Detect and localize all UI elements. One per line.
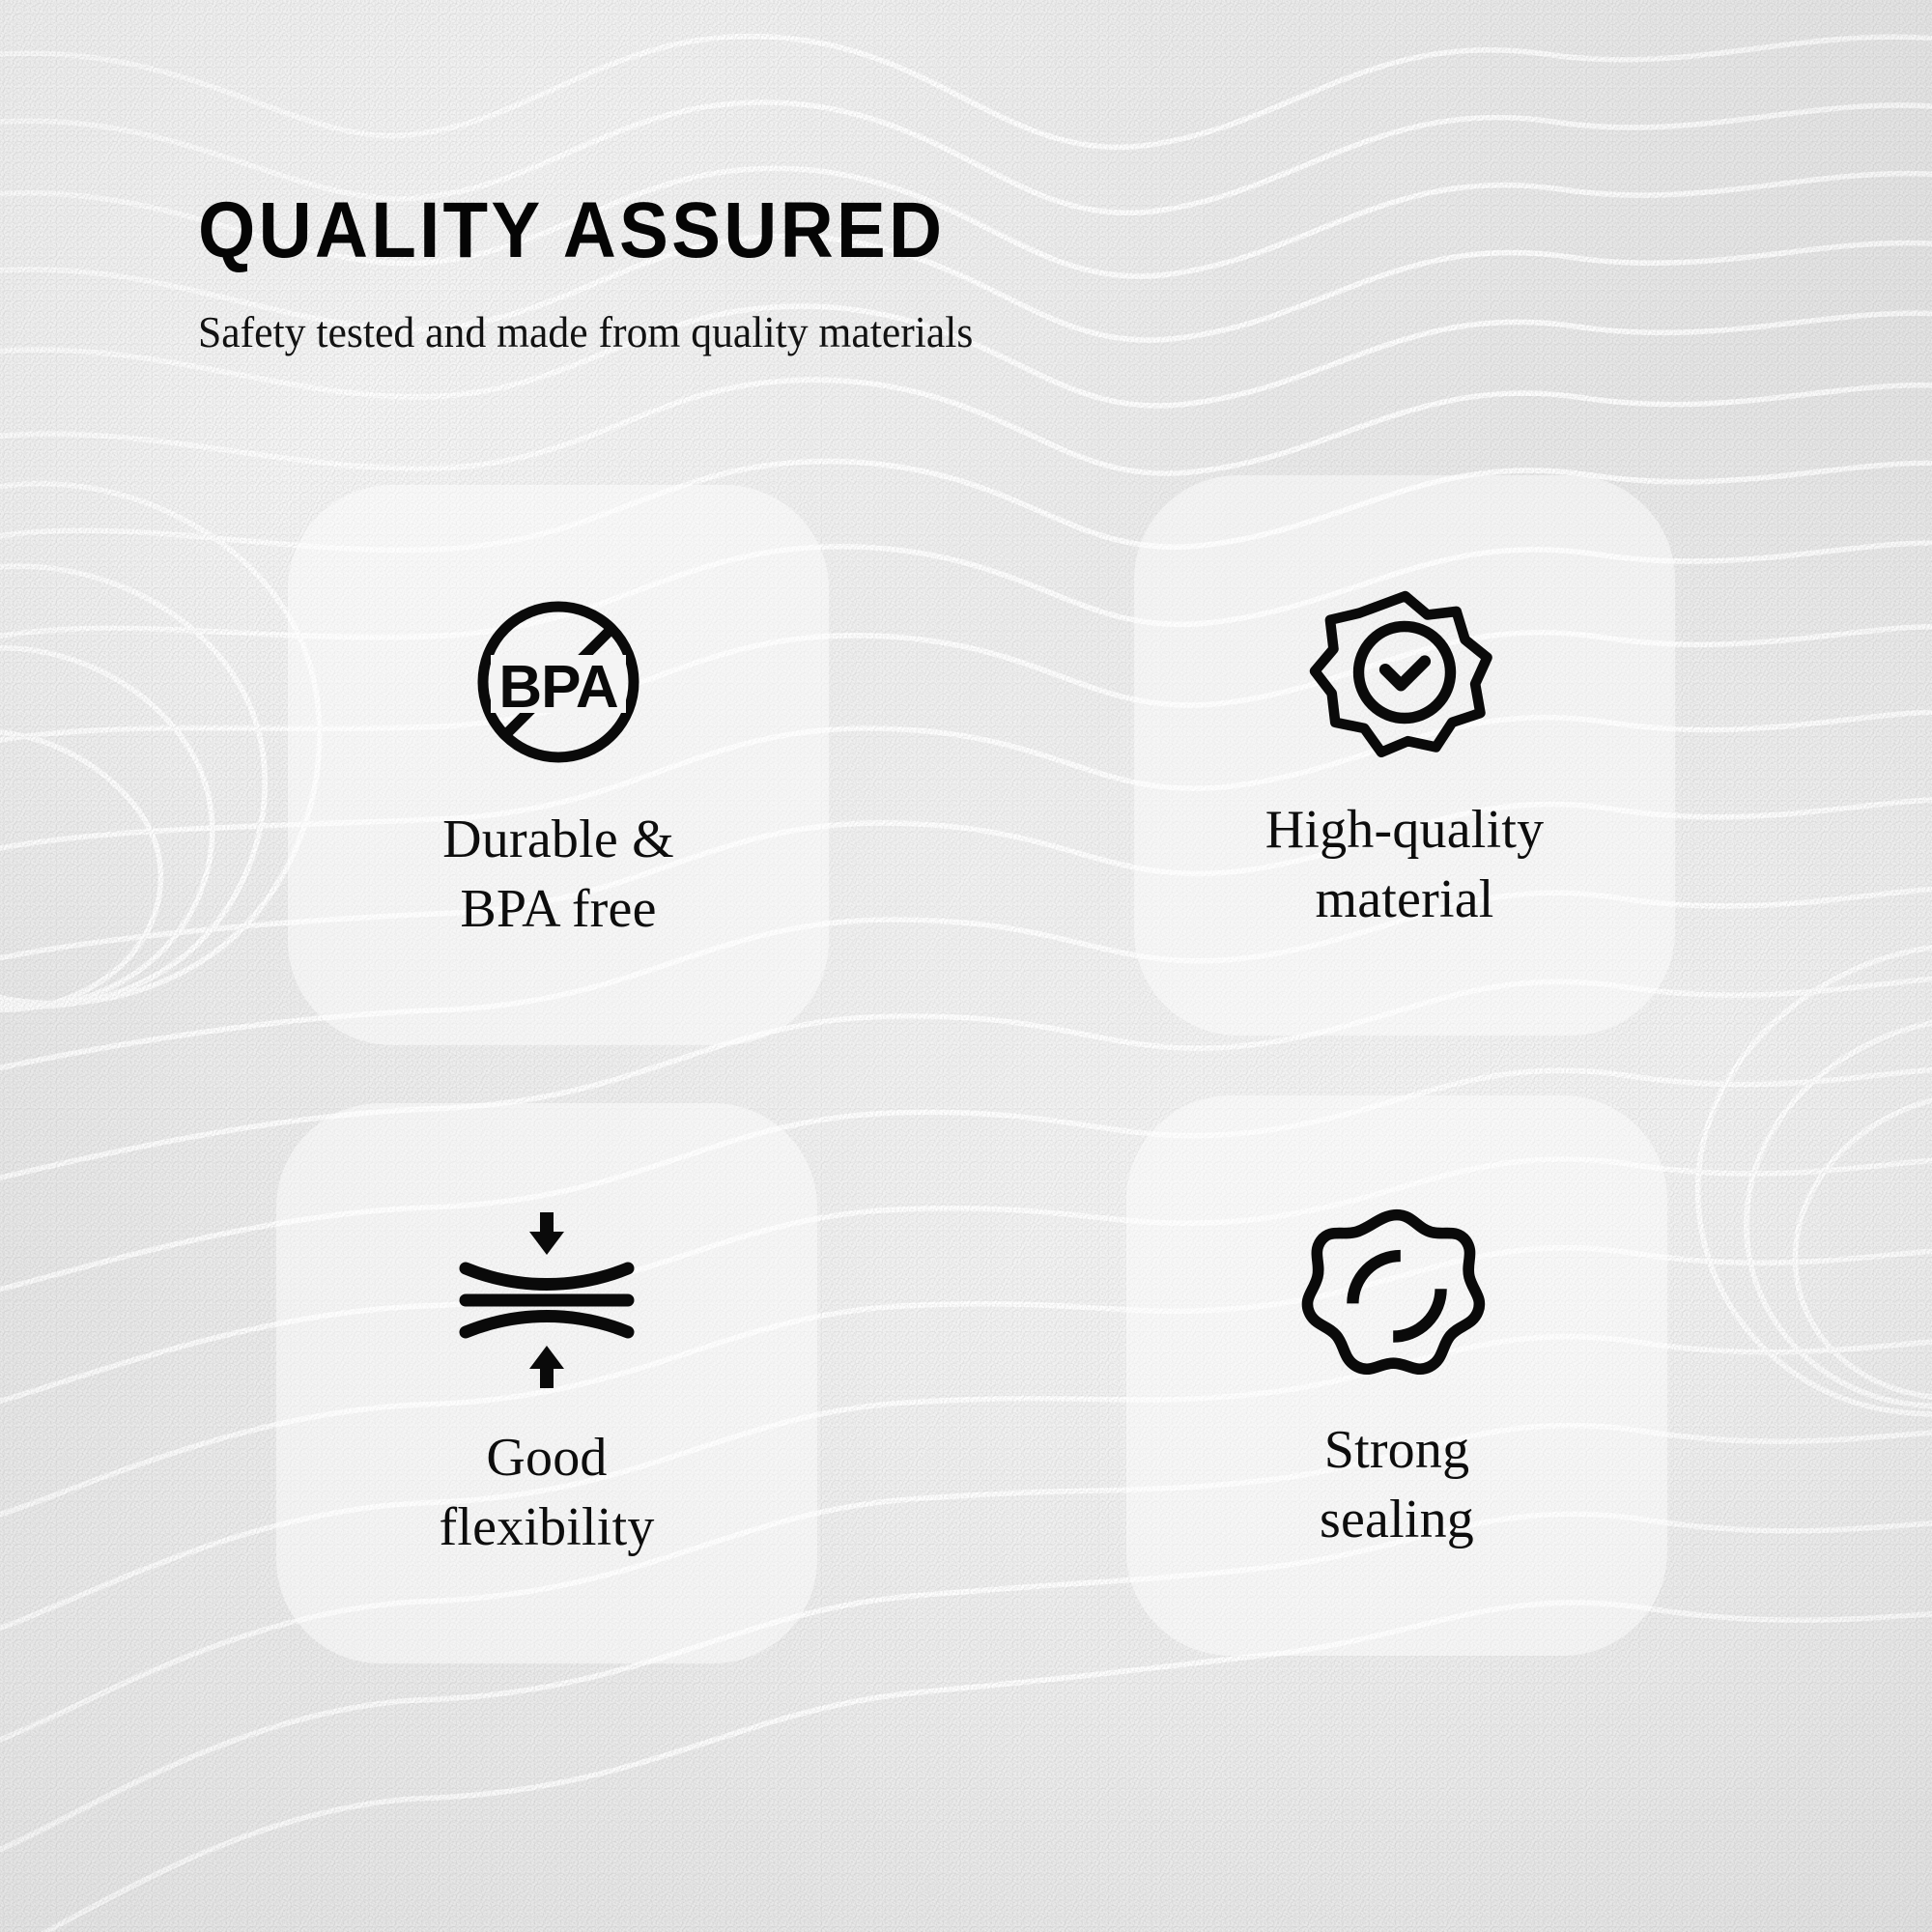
page-subtitle: Safety tested and made from quality mate… — [198, 270, 1510, 355]
infographic-canvas: QUALITY ASSURED Safety tested and made f… — [0, 0, 1932, 1932]
badge-check-icon — [1289, 576, 1520, 769]
seal-scallop-icon — [1281, 1196, 1513, 1389]
feature-label: Strong sealing — [1320, 1416, 1474, 1554]
flexibility-arrows-icon — [431, 1204, 663, 1397]
bpa-icon-text: BPA — [498, 654, 618, 721]
header: QUALITY ASSURED Safety tested and made f… — [198, 191, 1550, 355]
feature-card-durable-bpa-free[interactable]: BPA Durable & BPA free — [288, 485, 829, 1045]
feature-label: Durable & BPA free — [442, 806, 674, 944]
page-title: QUALITY ASSURED — [198, 191, 1456, 270]
feature-label: Good flexibility — [439, 1424, 654, 1562]
feature-card-high-quality-material[interactable]: High-quality material — [1134, 475, 1675, 1036]
feature-card-strong-sealing[interactable]: Strong sealing — [1126, 1095, 1667, 1656]
feature-label: High-quality material — [1265, 796, 1545, 934]
feature-grid: BPA Durable & BPA free High-quality mate… — [288, 493, 1658, 1652]
no-bpa-icon: BPA — [442, 585, 674, 779]
feature-card-good-flexibility[interactable]: Good flexibility — [276, 1103, 817, 1663]
